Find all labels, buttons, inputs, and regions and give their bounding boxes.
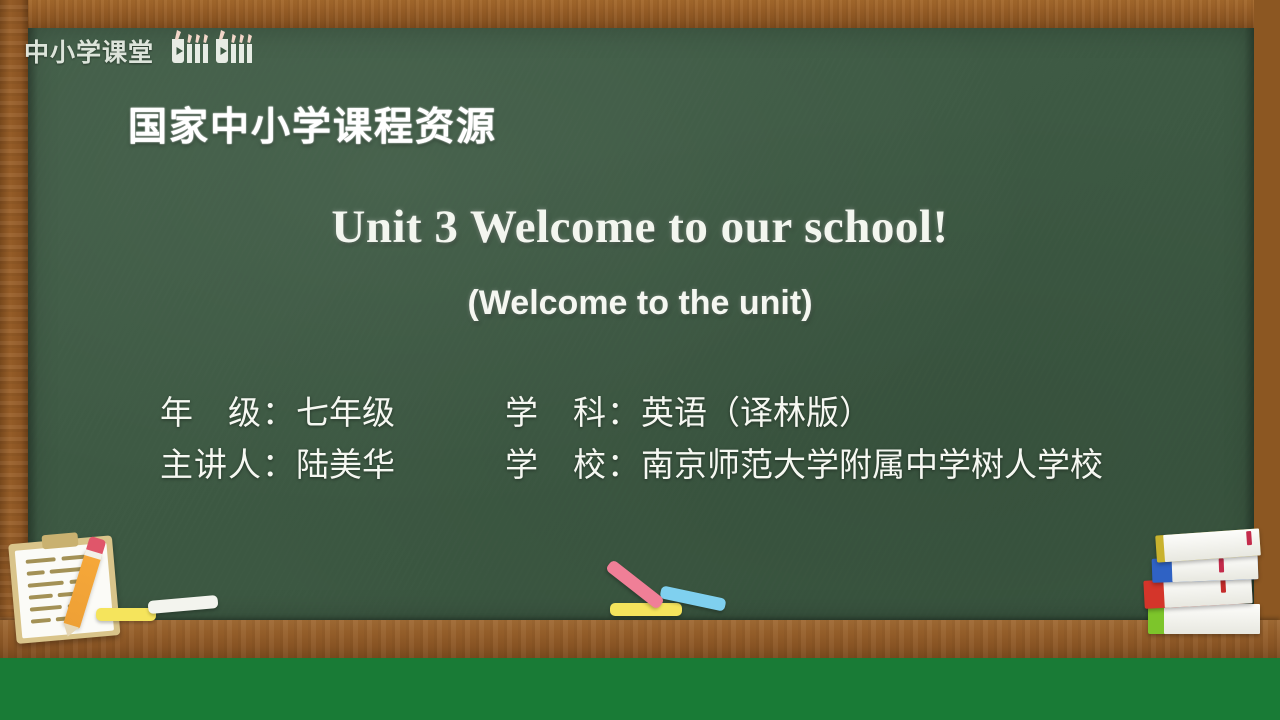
chalk-yellow-center — [610, 603, 682, 616]
site-title: 国家中小学课程资源 — [128, 96, 497, 152]
chalk-ledge — [0, 620, 1280, 658]
meta-teacher: 主讲人：陆美华 — [0, 440, 445, 492]
watermark-channel-text: 中小学课堂 — [24, 33, 154, 69]
wood-frame-top — [0, 0, 1280, 28]
meta-grade: 年 级：七年级 — [0, 388, 445, 440]
board-left-shadow — [28, 28, 38, 620]
meta-teacher-value: 陆美华 — [296, 448, 395, 484]
meta-subject: 学 科：英语（译林版） — [445, 388, 1280, 440]
meta-subject-label: 学 科： — [505, 396, 641, 432]
slide-canvas: 中小学课堂 — [0, 0, 1280, 720]
meta-grade-label: 年 级： — [160, 396, 296, 432]
chalk-yellow-left — [96, 608, 156, 621]
bottom-green-bar — [0, 658, 1280, 720]
meta-school-label: 学 校： — [505, 448, 641, 484]
clipboard-with-notes — [8, 528, 135, 644]
book-stack — [1144, 530, 1266, 638]
meta-row: 主讲人：陆美华 学 校：南京师范大学附属中学树人学校 — [0, 440, 1280, 492]
meta-teacher-label: 主讲人： — [160, 448, 296, 484]
unit-title: Unit 3 Welcome to our school! — [0, 200, 1280, 254]
meta-subject-value: 英语（译林版） — [641, 396, 872, 432]
unit-subtitle: (Welcome to the unit) — [0, 284, 1280, 323]
book-green — [1148, 604, 1260, 634]
lesson-meta: 年 级：七年级 学 科：英语（译林版） 主讲人：陆美华 学 校：南京师范大学附属… — [0, 388, 1280, 492]
meta-row: 年 级：七年级 学 科：英语（译林版） — [0, 388, 1280, 440]
meta-grade-value: 七年级 — [296, 396, 395, 432]
channel-watermark: 中小学课堂 — [24, 30, 278, 71]
meta-school: 学 校：南京师范大学附属中学树人学校 — [445, 440, 1280, 492]
meta-school-value: 南京师范大学附属中学树人学校 — [641, 448, 1103, 484]
bilibili-logo-icon — [166, 30, 278, 71]
